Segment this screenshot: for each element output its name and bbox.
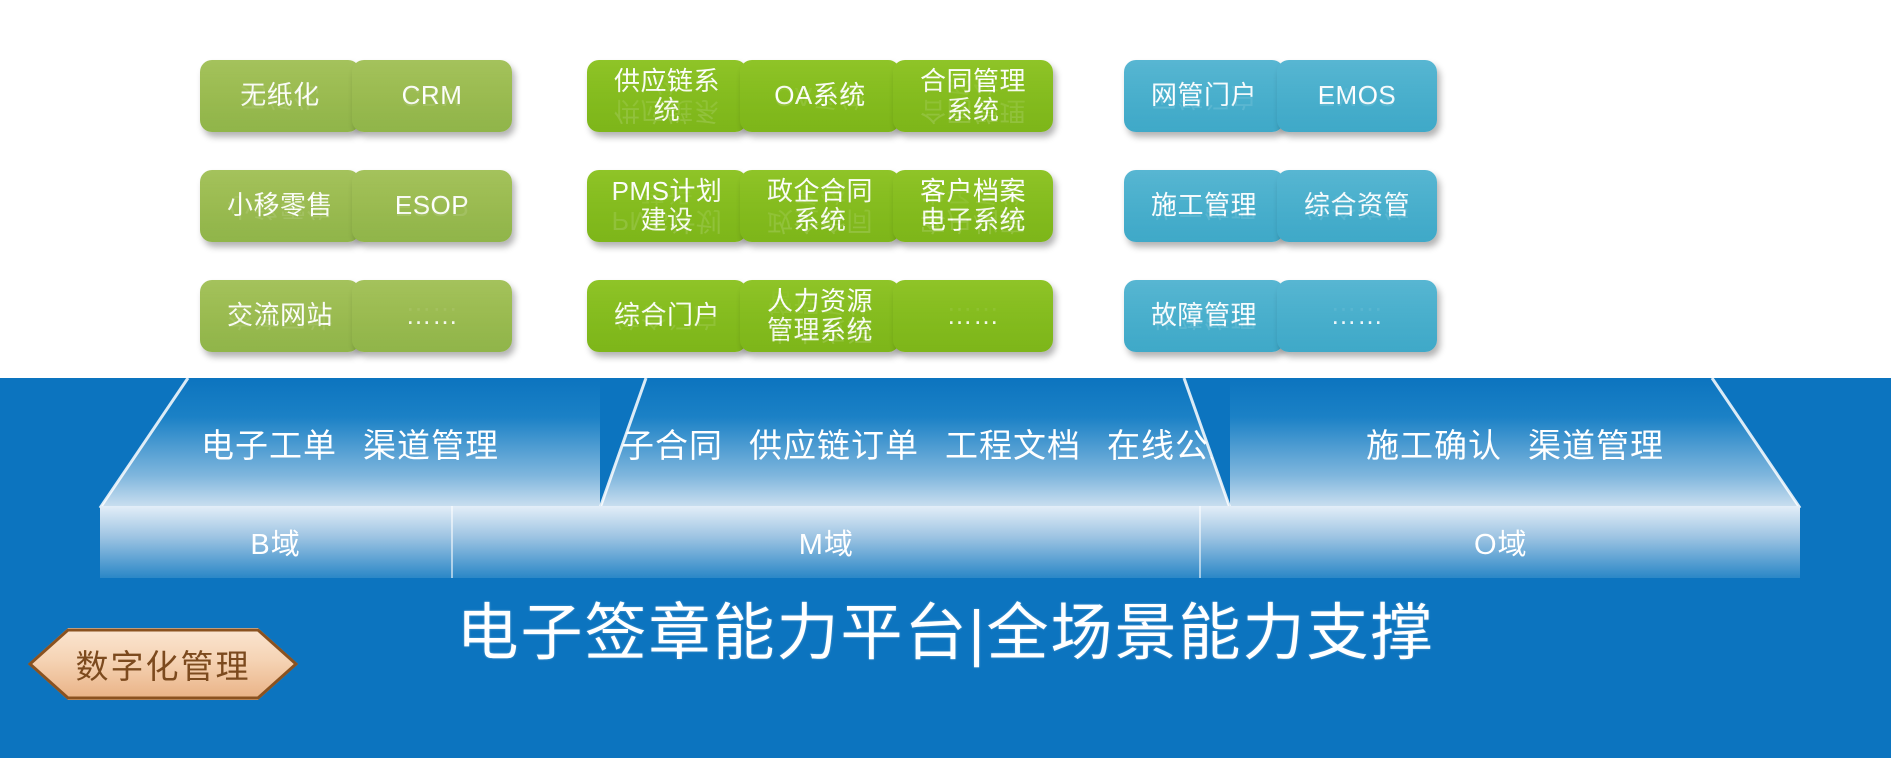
tile-column-m-1: 供应链系统 PMS计划建设 综合门户 xyxy=(587,60,747,352)
domain-label-m: M域 xyxy=(453,506,1199,578)
tile-esop[interactable]: ESOP xyxy=(352,170,512,242)
badge-label: 数字化管理 xyxy=(76,640,251,688)
tile-label: ESOP xyxy=(395,191,469,220)
tile-label: 客户档案电子系统 xyxy=(920,177,1026,235)
tile-m-more[interactable]: …… xyxy=(893,280,1053,352)
tile-gongyinglian-xitong[interactable]: 供应链系统 xyxy=(587,60,747,132)
tile-column-b-2: CRM ESOP …… xyxy=(352,60,512,352)
tile-label: 供应链系统 xyxy=(614,67,720,125)
tile-shigong-guanli[interactable]: 施工管理 xyxy=(1124,170,1284,242)
tile-zonghe-ziguan[interactable]: 综合资管 xyxy=(1277,170,1437,242)
tile-zonghe-menhu[interactable]: 综合门户 xyxy=(587,280,747,352)
capability-label: 电子合同 xyxy=(587,419,723,467)
capability-label: 在线公文 xyxy=(1107,419,1243,467)
tile-b-more[interactable]: …… xyxy=(352,280,512,352)
tile-label: …… xyxy=(1331,301,1384,330)
digital-management-badge[interactable]: 数字化管理 xyxy=(28,628,298,700)
capability-trapezoids: 电子工单 渠道管理 电子合同 供应链订单 工程文档 在线公文 施工确认 渠道管理 xyxy=(0,378,1891,508)
capability-label: 施工确认 xyxy=(1366,419,1502,467)
capability-list-m: 电子合同 供应链订单 工程文档 在线公文 xyxy=(587,419,1243,467)
tile-column-o-2: EMOS 综合资管 …… xyxy=(1277,60,1437,352)
capability-label: 渠道管理 xyxy=(1528,419,1664,467)
capability-label: 工程文档 xyxy=(945,419,1081,467)
tile-label: 综合资管 xyxy=(1304,191,1410,220)
domain-label-o: O域 xyxy=(1201,506,1800,578)
tile-wangguan-menhu[interactable]: 网管门户 xyxy=(1124,60,1284,132)
trapezoid-o-domain[interactable]: 施工确认 渠道管理 xyxy=(1230,378,1800,508)
tile-column-m-3: 合同管理系统 客户档案电子系统 …… xyxy=(893,60,1053,352)
tile-label: EMOS xyxy=(1318,81,1397,110)
tile-label: 网管门户 xyxy=(1151,81,1257,110)
tile-pms-jihua-jianshe[interactable]: PMS计划建设 xyxy=(587,170,747,242)
tile-label: 故障管理 xyxy=(1151,301,1257,330)
capability-label: 电子工单 xyxy=(201,419,337,467)
tile-xiaoyi-lingshou[interactable]: 小移零售 xyxy=(200,170,360,242)
tile-label: PMS计划建设 xyxy=(612,177,723,235)
trapezoid-m-domain[interactable]: 电子合同 供应链订单 工程文档 在线公文 xyxy=(600,378,1230,508)
tile-label: 施工管理 xyxy=(1151,191,1257,220)
tile-label: 小移零售 xyxy=(227,191,333,220)
tile-guzhang-guanli[interactable]: 故障管理 xyxy=(1124,280,1284,352)
capability-list-b: 电子工单 渠道管理 xyxy=(201,419,499,467)
tile-label: 合同管理系统 xyxy=(920,67,1026,125)
tile-hetong-guanli-xitong[interactable]: 合同管理系统 xyxy=(893,60,1053,132)
tile-kehu-dangan-dianzi[interactable]: 客户档案电子系统 xyxy=(893,170,1053,242)
tile-label: 交流网站 xyxy=(227,301,333,330)
tile-label: 综合门户 xyxy=(614,301,720,330)
tile-jiaoliu-wangzhan[interactable]: 交流网站 xyxy=(200,280,360,352)
tile-emos[interactable]: EMOS xyxy=(1277,60,1437,132)
domain-label-b: B域 xyxy=(100,506,451,578)
tile-label: 无纸化 xyxy=(240,81,320,110)
tile-label: …… xyxy=(406,301,459,330)
tile-label: CRM xyxy=(402,81,463,110)
tile-label: OA系统 xyxy=(774,81,866,110)
tile-crm[interactable]: CRM xyxy=(352,60,512,132)
tile-column-m-2: OA系统 政企合同系统 人力资源管理系统 xyxy=(740,60,900,352)
capability-label: 供应链订单 xyxy=(749,419,919,467)
trapezoid-b-domain[interactable]: 电子工单 渠道管理 xyxy=(100,378,600,508)
application-tiles-area: 无纸化 小移零售 交流网站 CRM ESOP …… 供应链系统 PMS计划建设 … xyxy=(0,0,1891,378)
tile-label: 人力资源管理系统 xyxy=(767,287,873,345)
tile-column-b-1: 无纸化 小移零售 交流网站 xyxy=(200,60,360,352)
tile-renli-ziyuan-guanli[interactable]: 人力资源管理系统 xyxy=(740,280,900,352)
tile-o-more[interactable]: …… xyxy=(1277,280,1437,352)
domain-base-bar: B域 M域 O域 xyxy=(100,506,1800,578)
tile-label: 政企合同系统 xyxy=(767,177,873,235)
tile-oa-xitong[interactable]: OA系统 xyxy=(740,60,900,132)
capability-list-o: 施工确认 渠道管理 xyxy=(1366,419,1664,467)
capability-label: 渠道管理 xyxy=(363,419,499,467)
tile-wuzhihua[interactable]: 无纸化 xyxy=(200,60,360,132)
tile-label: …… xyxy=(947,301,1000,330)
tile-zhengqi-hetong-xitong[interactable]: 政企合同系统 xyxy=(740,170,900,242)
tile-column-o-1: 网管门户 施工管理 故障管理 xyxy=(1124,60,1284,352)
